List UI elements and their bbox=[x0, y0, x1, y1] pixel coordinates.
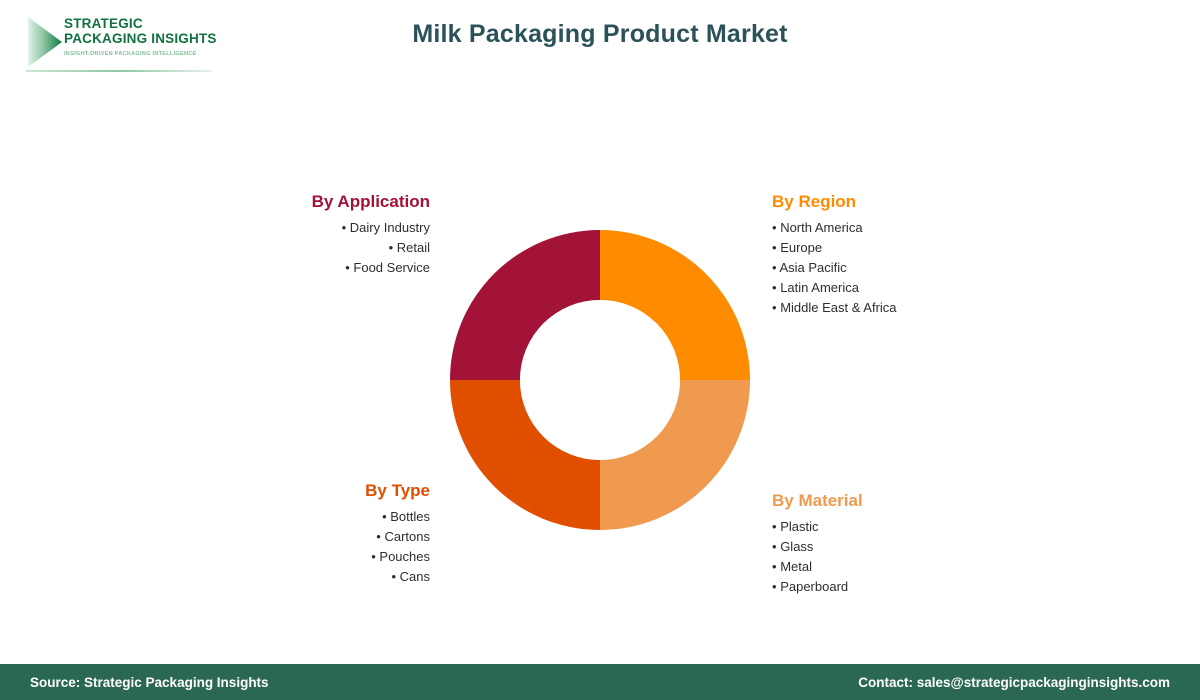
list-item: • Paperboard bbox=[772, 577, 1012, 597]
segment-list-application: • Dairy Industry • Retail • Food Service bbox=[230, 218, 430, 278]
segment-item-label: Food Service bbox=[353, 260, 430, 275]
footer-bar: Source: Strategic Packaging Insights Con… bbox=[0, 664, 1200, 700]
segment-title-region: By Region bbox=[772, 192, 1012, 212]
segment-list-type: • Bottles • Cartons • Pouches • Cans bbox=[245, 507, 430, 587]
list-item: • Asia Pacific bbox=[772, 258, 1012, 278]
segment-item-label: Asia Pacific bbox=[779, 260, 846, 275]
bullet-icon: • bbox=[772, 559, 777, 574]
bullet-icon: • bbox=[772, 260, 777, 275]
page-title: Milk Packaging Product Market bbox=[0, 20, 1200, 49]
list-item: • Retail bbox=[230, 238, 430, 258]
bullet-icon: • bbox=[772, 519, 777, 534]
list-item: • Pouches bbox=[245, 547, 430, 567]
segment-item-label: Glass bbox=[780, 539, 813, 554]
list-item: • Metal bbox=[772, 557, 1012, 577]
list-item: • Europe bbox=[772, 238, 1012, 258]
segment-list-region: • North America • Europe • Asia Pacific … bbox=[772, 218, 1012, 318]
segment-block-type: By Type • Bottles • Cartons • Pouches • … bbox=[245, 481, 430, 587]
bullet-icon: • bbox=[772, 539, 777, 554]
bullet-icon: • bbox=[772, 300, 777, 315]
brand-tagline: INSIGHT-DRIVEN PACKAGING INTELLIGENCE bbox=[64, 51, 224, 57]
segment-title-material: By Material bbox=[772, 491, 1012, 511]
segment-item-label: Paperboard bbox=[780, 579, 848, 594]
segment-item-label: Pouches bbox=[379, 549, 430, 564]
bullet-icon: • bbox=[772, 280, 777, 295]
list-item: • Plastic bbox=[772, 517, 1012, 537]
segment-item-label: Cans bbox=[400, 569, 430, 584]
segment-item-label: Retail bbox=[397, 240, 430, 255]
bullet-icon: • bbox=[382, 509, 387, 524]
list-item: • Bottles bbox=[245, 507, 430, 527]
segment-item-label: Europe bbox=[780, 240, 822, 255]
segment-item-label: Middle East & Africa bbox=[780, 300, 896, 315]
segment-block-material: By Material • Plastic • Glass • Metal • … bbox=[772, 491, 1012, 597]
bullet-icon: • bbox=[389, 240, 394, 255]
segment-item-label: Plastic bbox=[780, 519, 818, 534]
list-item: • Dairy Industry bbox=[230, 218, 430, 238]
bullet-icon: • bbox=[772, 579, 777, 594]
donut-center-hole bbox=[520, 300, 680, 460]
list-item: • Cans bbox=[245, 567, 430, 587]
segment-block-region: By Region • North America • Europe • Asi… bbox=[772, 192, 1012, 318]
segment-item-label: Dairy Industry bbox=[350, 220, 430, 235]
bullet-icon: • bbox=[376, 529, 381, 544]
segment-title-type: By Type bbox=[245, 481, 430, 501]
segment-title-application: By Application bbox=[230, 192, 430, 212]
bullet-icon: • bbox=[772, 240, 777, 255]
bullet-icon: • bbox=[342, 220, 347, 235]
logo-underline-divider bbox=[26, 70, 212, 72]
segment-item-label: Metal bbox=[780, 559, 812, 574]
infographic-canvas: STRATEGIC PACKAGING INSIGHTS INSIGHT-DRI… bbox=[0, 0, 1200, 700]
bullet-icon: • bbox=[371, 549, 376, 564]
bullet-icon: • bbox=[391, 569, 396, 584]
footer-source-text: Source: Strategic Packaging Insights bbox=[30, 675, 269, 690]
bullet-icon: • bbox=[772, 220, 777, 235]
list-item: • Food Service bbox=[230, 258, 430, 278]
segment-item-label: Latin America bbox=[780, 280, 859, 295]
list-item: • Cartons bbox=[245, 527, 430, 547]
footer-contact-text[interactable]: Contact: sales@strategicpackaginginsight… bbox=[858, 675, 1170, 690]
segment-item-label: Cartons bbox=[384, 529, 430, 544]
list-item: • Middle East & Africa bbox=[772, 298, 1012, 318]
bullet-icon: • bbox=[345, 260, 350, 275]
segment-item-label: Bottles bbox=[390, 509, 430, 524]
donut-chart bbox=[450, 230, 750, 530]
list-item: • North America bbox=[772, 218, 1012, 238]
segment-item-label: North America bbox=[780, 220, 862, 235]
list-item: • Latin America bbox=[772, 278, 1012, 298]
segment-list-material: • Plastic • Glass • Metal • Paperboard bbox=[772, 517, 1012, 597]
list-item: • Glass bbox=[772, 537, 1012, 557]
segment-block-application: By Application • Dairy Industry • Retail… bbox=[230, 192, 430, 278]
